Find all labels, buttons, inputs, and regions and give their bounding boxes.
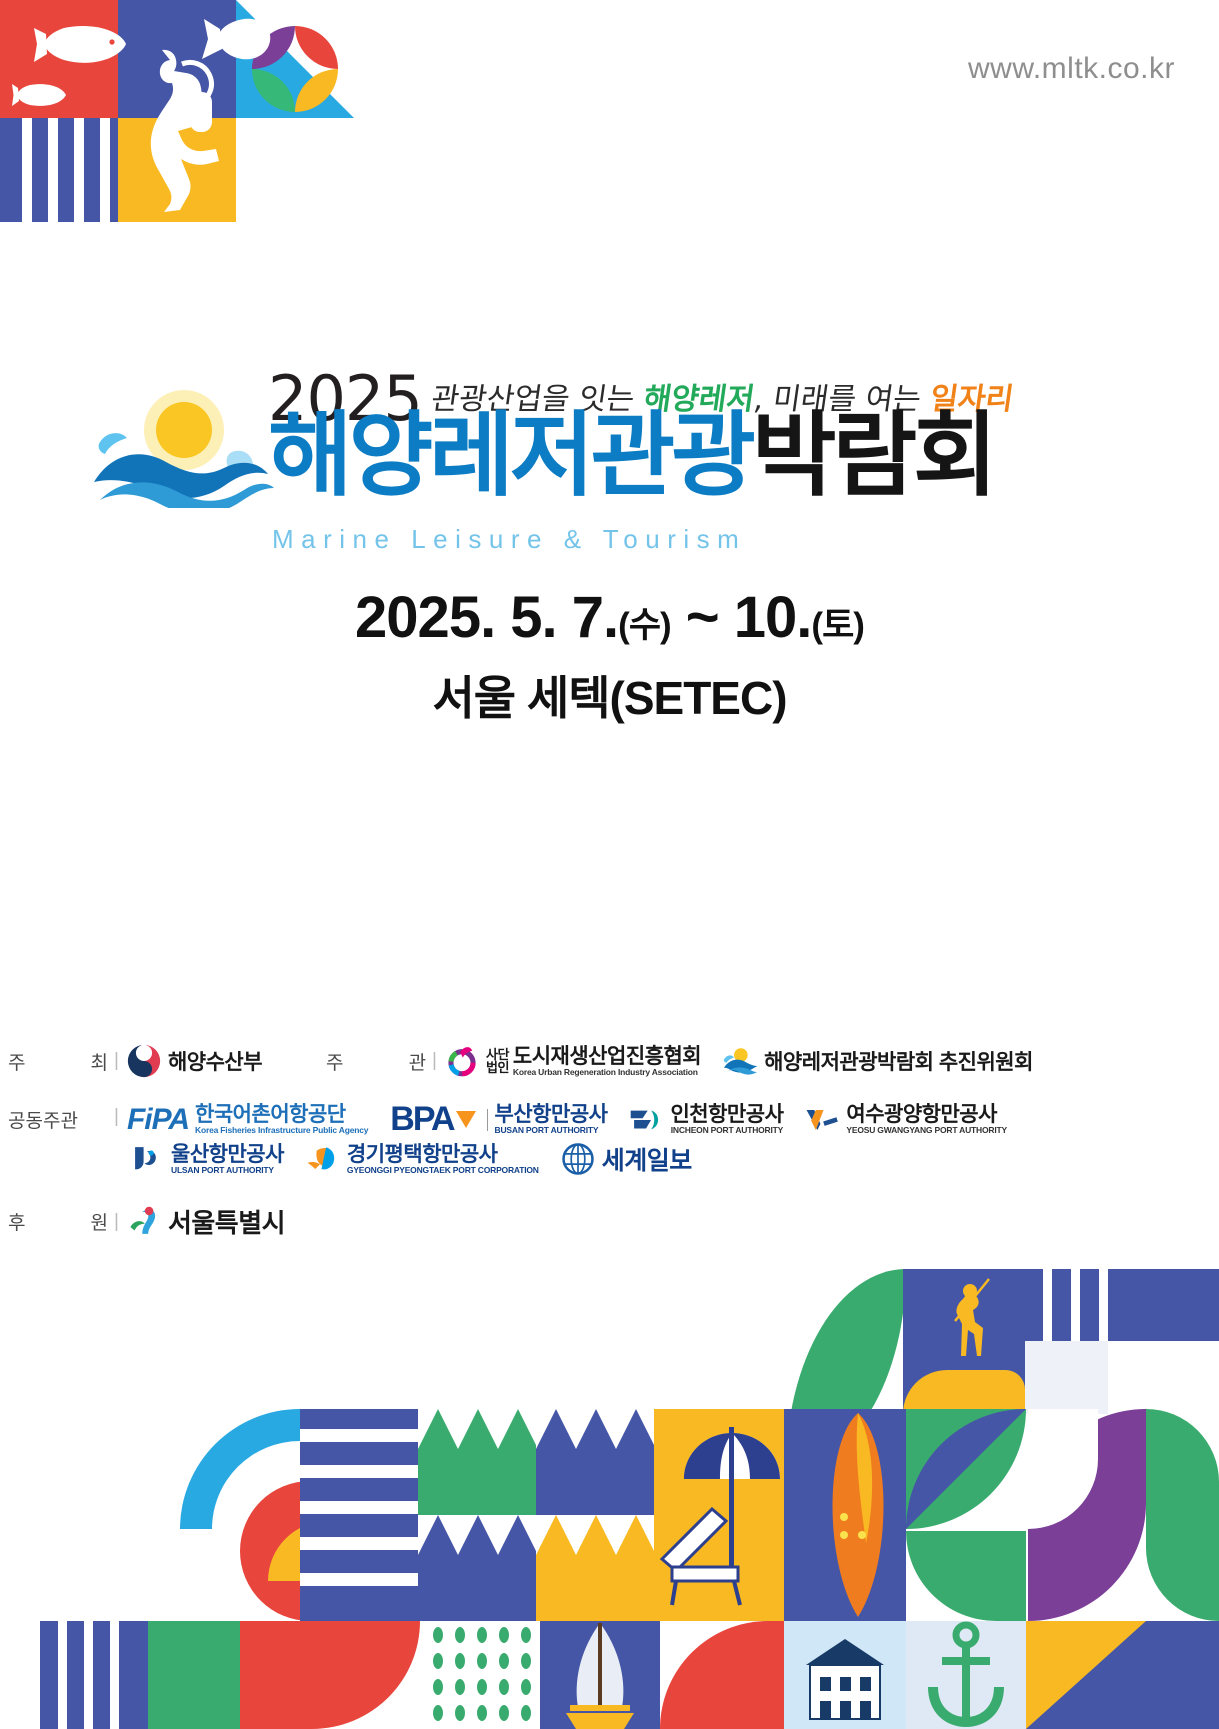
segye-globe-icon [561,1142,595,1176]
poster-root: www.mltk.co.kr 2025 관광산업을 잇는 해양레저, 미래를 여… [0,0,1219,1729]
sponsor-item-fipa: FiPA 한국어촌어항공단 Korea Fisheries Infrastruc… [127,1103,368,1137]
label-organizer: 주 관 [318,1048,426,1075]
sun-wave-icon [723,1044,757,1078]
deco-dots-tile [420,1621,540,1729]
sponsor-name-kuria: 도시재생산업진흥협회 [513,1046,701,1068]
surfboard-icon [784,1409,906,1621]
fish-icon [34,22,130,70]
sponsor-name-gppc: 경기평택항만공사 [347,1144,539,1166]
kuria-circle-icon [445,1044,479,1078]
ygpa-icon [805,1103,839,1137]
sponsor-prefix-kuria: 사단법인 [486,1048,509,1074]
label-organizer-char2: 관 [409,1048,426,1075]
sponsor-item-upa: 울산항만공사 ULSAN PORT AUTHORITY [130,1142,284,1176]
sponsor-item-kuria: 사단법인 도시재생산업진흥협회 Korea Urban Regeneration… [445,1044,701,1078]
sponsor-item-ipa: 인천항만공사 INCHEON PORT AUTHORITY [629,1103,783,1137]
gppc-icon [306,1142,340,1176]
sponsor-name-seoul: 서울특별시 [168,1203,285,1240]
sponsor-en-kuria: Korea Urban Regeneration Industry Associ… [513,1068,701,1077]
korea-government-taegeuk-icon [127,1044,161,1078]
deco-surfboard-tile [784,1409,906,1621]
deco-sailboat-tile [540,1621,660,1729]
sponsor-name-ygpa: 여수광양항만공사 [846,1104,1007,1126]
deco-red-half-circle-2 [660,1621,784,1729]
title-block: 2025 관광산업을 잇는 해양레저, 미래를 여는 일자리 해양레저관광박람회… [0,352,1219,528]
sponsor-mark-fipa: FiPA [127,1103,189,1137]
deco-zigzag-green [418,1409,536,1515]
sponsor-en-gppc: GYEONGGI PYEONGTAEK PORT CORPORATION [347,1166,539,1175]
logo-row: 2025 관광산업을 잇는 해양레저, 미래를 여는 일자리 해양레저관광박람회… [0,352,1219,528]
sponsor-item-segye: 세계일보 [561,1141,692,1177]
deco-stripes-top-right [1025,1269,1219,1341]
deco-stripes-bottom-left [40,1621,148,1729]
sponsor-en-upa: ULSAN PORT AUTHORITY [171,1166,284,1175]
deco-fisherman-tile [903,1269,1025,1414]
supporter-items: 서울특별시 [127,1203,307,1240]
sponsor-en-ipa: INCHEON PORT AUTHORITY [670,1126,783,1135]
main-title-blue: 해양레저관광 [268,405,752,507]
event-venue: 서울 세텍(SETEC) [0,662,1219,728]
label-supporter-char1: 후 [8,1208,25,1235]
label-supporter-char2: 원 [91,1208,108,1235]
sponsor-name-fipa: 한국어촌어항공단 [195,1104,368,1126]
sponsor-row-supporter: 후 원 | 서울특별시 [0,1203,1219,1240]
event-date-separator: ~ 10. [671,585,812,650]
beach-umbrella-chair-icon [654,1409,784,1621]
deco-white-panel [1108,1341,1219,1414]
label-supporter: 후 원 [0,1208,108,1235]
ipa-icon [629,1103,663,1137]
deco-zigzag-navy-2 [536,1409,654,1515]
deco-anchor-tile [906,1621,1026,1729]
deco-leaf-green-right-lower [906,1531,1026,1621]
seoul-city-icon [127,1205,161,1239]
deco-leaf-green-far-right [1146,1409,1219,1621]
sponsor-name-committee: 해양레저관광박람회 추진위원회 [764,1046,1033,1076]
deco-red-half-circle [240,1621,420,1729]
bottom-decoration [0,1259,1219,1729]
sponsor-en-ygpa: YEOSU GWANGYANG PORT AUTHORITY [846,1126,1007,1135]
label-organizer-char1: 주 [326,1048,343,1075]
deco-navy-tile-far-right [1146,1621,1219,1729]
anchor-icon [906,1621,1026,1729]
deco-zigzag-navy [418,1515,536,1621]
deco-zigzag-yellow [536,1515,654,1621]
organizer-items: 사단법인 도시재생산업진흥협회 Korea Urban Regeneration… [445,1044,1055,1078]
sponsor-item-committee: 해양레저관광박람회 추진위원회 [723,1044,1033,1078]
deco-beach-tile [654,1409,784,1621]
sponsor-name-segye: 세계일보 [602,1141,692,1177]
label-host-char1: 주 [8,1048,25,1075]
english-subtitle: Marine Leisure & Tourism [272,524,746,555]
event-date-start-day: (수) [618,606,671,645]
sponsor-mark-bpa: BPA [390,1100,453,1139]
event-date-start: 2025. 5. 7. [355,585,618,650]
fish-icon [12,82,68,108]
sponsor-name-ipa: 인천항만공사 [670,1104,783,1126]
sponsor-item-seoul: 서울특별시 [127,1203,285,1240]
deco-white-tile-right [1025,1341,1115,1414]
top-left-decoration [0,0,360,222]
website-url[interactable]: www.mltk.co.kr [968,52,1175,86]
sponsor-name-mof: 해양수산부 [168,1046,262,1076]
main-title-black: 박람회 [752,405,994,507]
event-date-end-day: (토) [811,606,864,645]
sun-wave-emblem-icon [92,390,274,508]
main-title: 해양레저관광박람회 [268,410,994,502]
deco-stripe-tile [0,118,118,222]
sponsor-row-host-organizer: 주 최 | 해양수산부 주 관 | [0,1044,1219,1078]
label-divider-3: | [114,1100,119,1128]
host-items: 해양수산부 [127,1044,284,1078]
label-host: 주 최 [0,1048,108,1075]
deco-green-half-circle [148,1621,240,1729]
sponsor-item-gppc: 경기평택항만공사 GYEONGGI PYEONGTAEK PORT CORPOR… [306,1142,539,1176]
fisherman-icon [903,1269,1025,1414]
sponsor-name-bpa: 부산항만공사 [495,1104,608,1126]
sailboat-icon [540,1621,660,1729]
scuba-diver-icon [130,42,240,212]
seaside-house-icon [784,1621,906,1729]
label-co-organizer: 공동주관 [0,1100,108,1133]
sponsor-row-co-organizer: 공동주관 | FiPA 한국어촌어항공단 Korea Fisheries Inf… [0,1100,1219,1139]
sponsor-en-bpa: BUSAN PORT AUTHORITY [495,1126,608,1135]
dots-pattern-icon [420,1621,540,1729]
deco-house-tile [784,1621,906,1729]
bpa-triangle-icon [456,1111,476,1129]
upa-icon [130,1142,164,1176]
sponsor-section: 주 최 | 해양수산부 주 관 | [0,1044,1219,1246]
sponsor-item-ygpa: 여수광양항만공사 YEOSU GWANGYANG PORT AUTHORITY [805,1103,1007,1137]
deco-stripe-tile-2 [300,1409,418,1621]
sponsor-name-upa: 울산항만공사 [171,1144,284,1166]
sponsor-item-bpa: BPA 부산항만공사 BUSAN PORT AUTHORITY [390,1100,607,1139]
label-divider-4: | [114,1211,119,1233]
label-divider: | [114,1050,119,1072]
sponsor-en-fipa: Korea Fisheries Infrastructure Public Ag… [195,1126,368,1135]
co-organizer-items: FiPA 한국어촌어항공단 Korea Fisheries Infrastruc… [127,1100,1007,1139]
label-host-char2: 최 [91,1048,108,1075]
event-date: 2025. 5. 7.(수) ~ 10.(토) [0,584,1219,651]
label-divider-2: | [432,1050,437,1072]
deco-white-tile [236,118,360,222]
sponsor-row-co-organizer-2: 울산항만공사 ULSAN PORT AUTHORITY 경기평택항만공사 GYE… [108,1141,1219,1177]
deco-yellow-triangle-tile [1026,1621,1146,1729]
sponsor-item-mof: 해양수산부 [127,1044,262,1078]
